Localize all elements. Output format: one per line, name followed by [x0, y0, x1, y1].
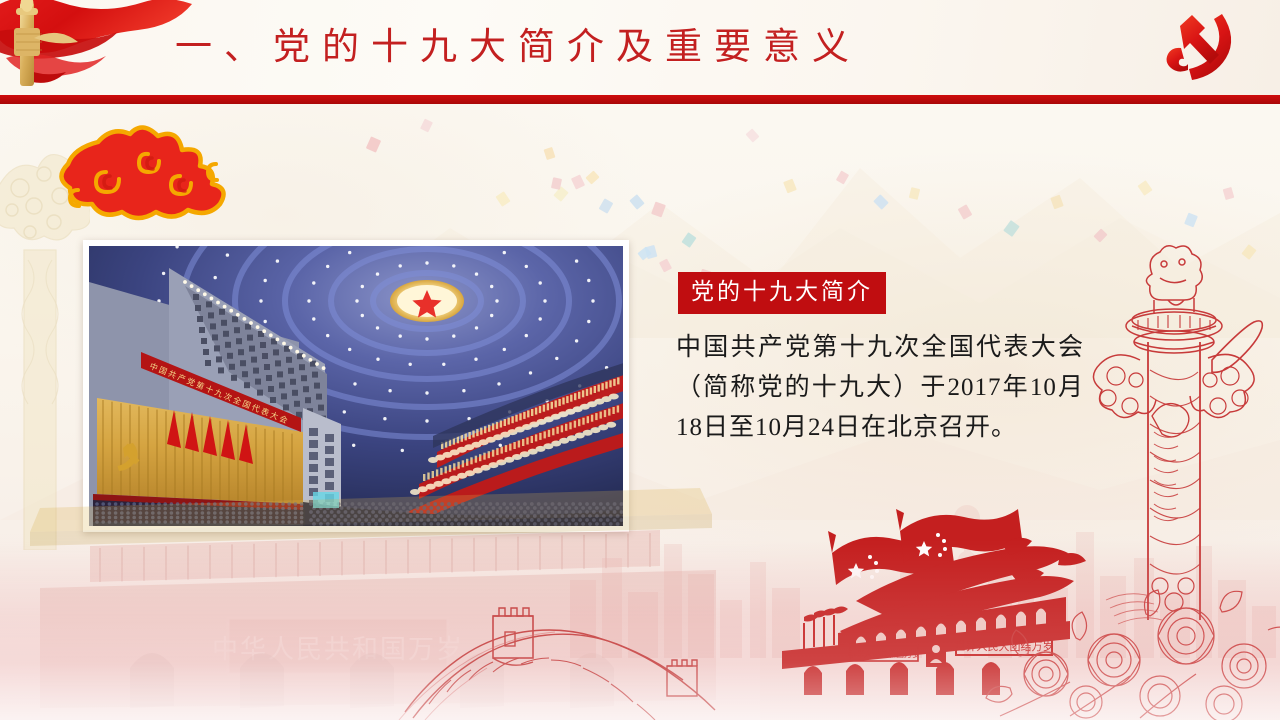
slide-header: 一、党的十九大简介及重要意义: [0, 0, 1280, 104]
party-emblem-hammer-sickle-icon: [1150, 6, 1246, 90]
body-paragraph: 中国共产党第十九次全国代表大会（简称党的十九大）于2017年10月18日至10月…: [676, 328, 1084, 448]
peony-flowers-icon: [980, 570, 1280, 720]
page-title: 一、党的十九大简介及重要意义: [175, 22, 861, 74]
red-flag-torch-icon: [0, 0, 204, 100]
tiananmen-left-slogan: 中华人民共和国万岁: [848, 649, 920, 659]
slide-root: 一、党的十九大简介及重要意义: [0, 0, 1280, 720]
great-wall-icon: [395, 580, 725, 720]
huabiao-column-icon: [1090, 220, 1270, 620]
auspicious-cloud-icon: [40, 118, 240, 230]
header-red-rule: [0, 95, 1280, 104]
section-badge: 党的十九大简介: [678, 272, 886, 314]
